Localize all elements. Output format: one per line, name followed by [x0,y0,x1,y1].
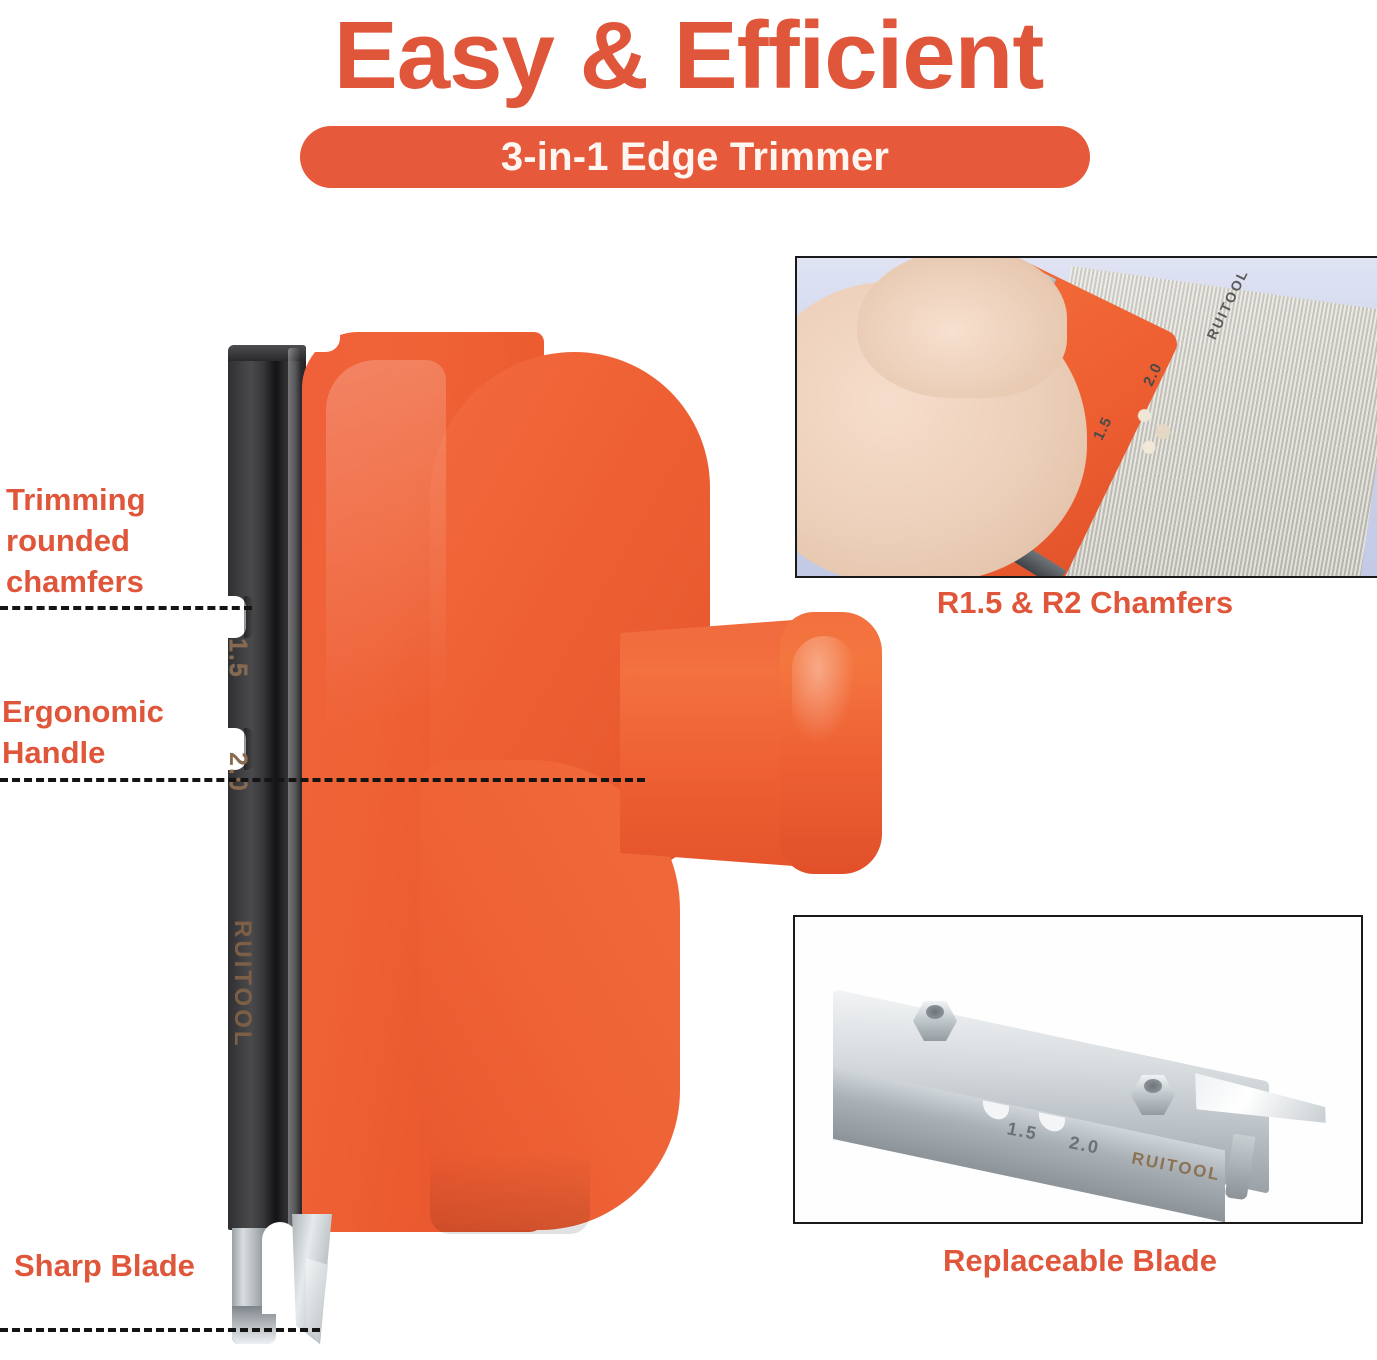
hex-nut-left-hole [926,1005,944,1019]
handle-top-nick [306,330,340,352]
chamfer-notch-1-5-shadow [244,596,254,638]
handle-grip-knob-highlight [792,636,856,746]
photo-panel-replaceable-blade: 1.5 2.0 RUITOOL [793,915,1363,1224]
leader-line-handle [0,778,645,782]
caption-replaceable-blade: Replaceable Blade [790,1243,1370,1279]
leader-line-chamfers [0,606,252,610]
blade-mark-1-5: 1.5 [223,638,252,679]
handle-highlight [326,360,446,860]
chamfer-notch-1-5 [224,596,246,638]
handle-lower-shading [430,1150,590,1234]
blade-highlight [288,348,300,1228]
photo-panel-chamfers: 1.5 2.0 RUITOOL [795,256,1377,578]
wood-shavings [1127,394,1185,466]
blade-mark-2-0: 2.0 [223,752,252,793]
callout-ergonomic-handle: Ergonomic Handle [2,692,164,774]
hex-nut-right-hole [1144,1079,1162,1093]
caption-chamfers: R1.5 & R2 Chamfers [795,585,1375,621]
thumb [857,256,1067,398]
callout-sharp-blade: Sharp Blade [14,1246,195,1287]
product-infographic: Easy & Efficient 3-in-1 Edge Trimmer 1.5… [0,0,1377,1360]
hero-product-illustration: 1.5 2.0 RUITOOL [0,0,900,1360]
leader-line-sharp-blade [0,1328,320,1332]
brand-engraving: RUITOOL [228,920,256,1049]
blade-cut-gap [262,1222,298,1314]
callout-trimming-rounded-chamfers: Trimming rounded chamfers [6,480,146,603]
